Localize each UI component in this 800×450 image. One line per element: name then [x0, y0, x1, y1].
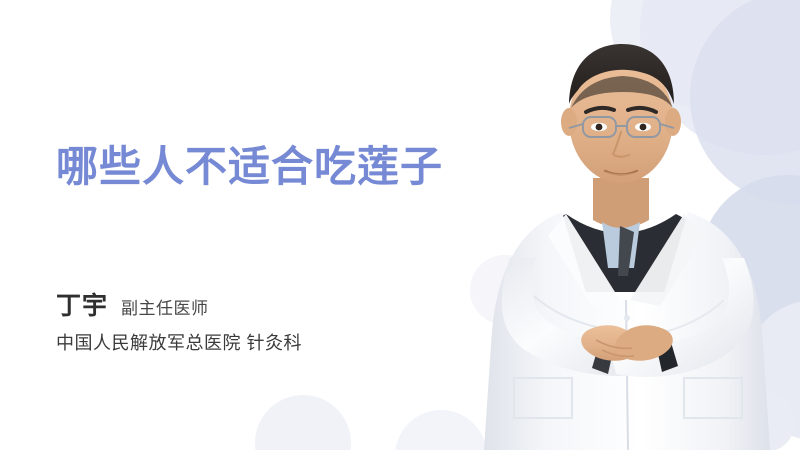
doctor-topic-card: 哪些人不适合吃莲子 丁宇 副主任医师 中国人民解放军总医院 针灸科: [0, 0, 800, 450]
doctor-name: 丁宇: [56, 286, 108, 322]
doctor-name-row: 丁宇 副主任医师: [56, 286, 302, 322]
doctor-rank: 副主任医师: [121, 294, 209, 319]
doctor-byline: 丁宇 副主任医师 中国人民解放军总医院 针灸科: [56, 286, 302, 355]
decor-circle: [255, 395, 351, 450]
page-title: 哪些人不适合吃莲子: [56, 143, 443, 190]
doctor-affiliation: 中国人民解放军总医院 针灸科: [56, 329, 302, 355]
doctor-portrait: [470, 0, 800, 450]
